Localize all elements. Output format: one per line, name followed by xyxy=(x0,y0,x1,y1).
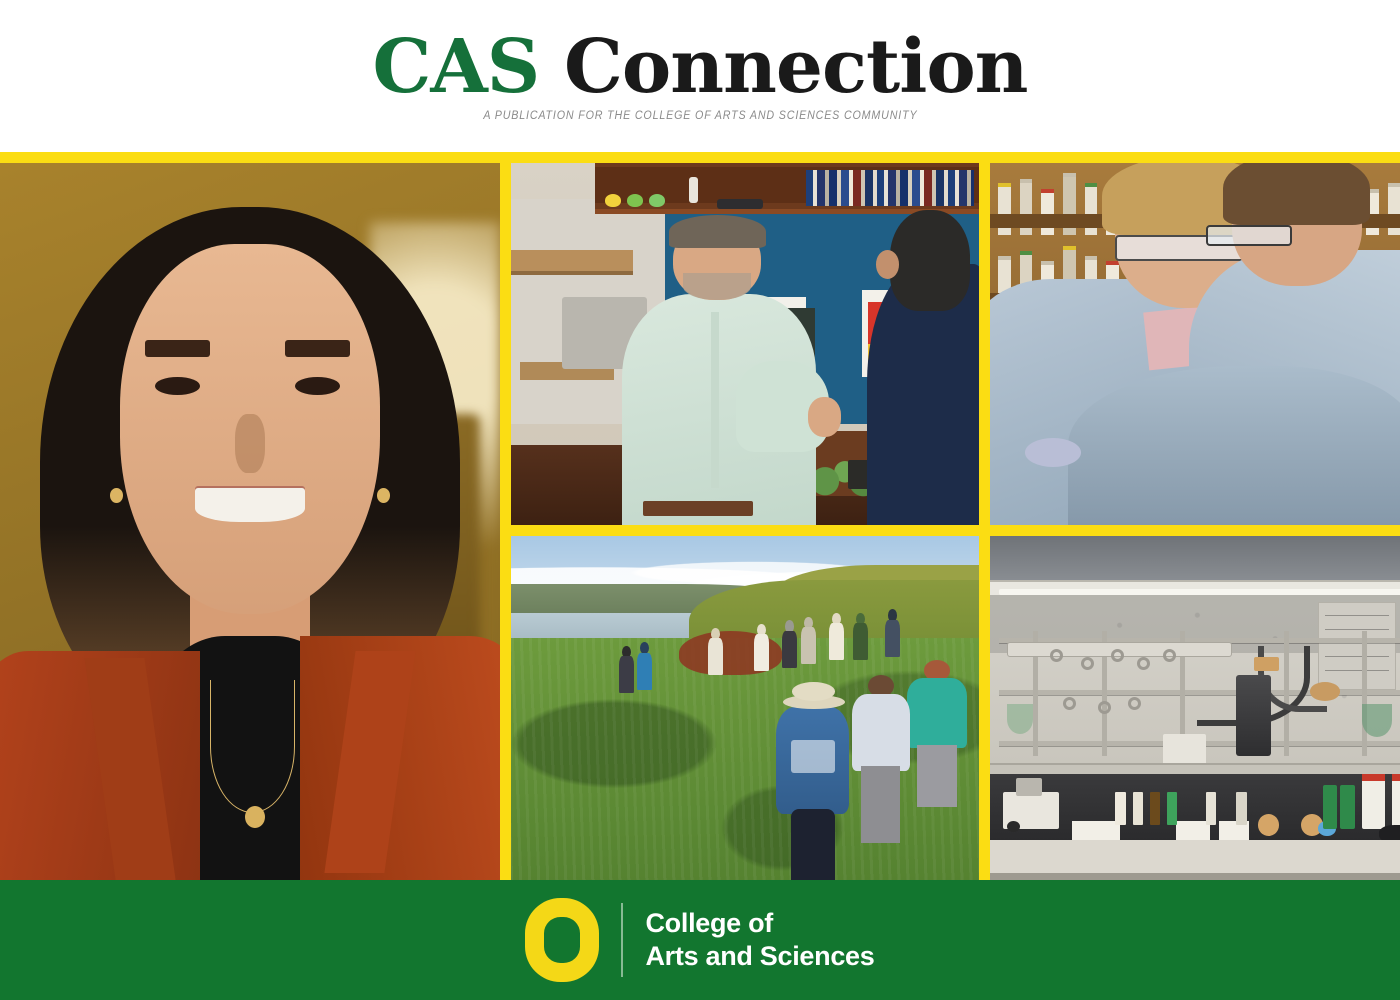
footer-brand-bar: College of Arts and Sciences xyxy=(0,880,1400,1000)
lockup-line-2: Arts and Sciences xyxy=(645,940,874,973)
lockup-line-1: College of xyxy=(645,907,874,940)
photo-grid xyxy=(0,152,1400,880)
lockup-text: College of Arts and Sciences xyxy=(645,907,874,973)
photo-coastal-field-trip xyxy=(511,536,979,902)
photo-faculty-office-conversation xyxy=(511,163,979,525)
photo-chemistry-students-at-bench xyxy=(990,163,1400,525)
lockup-divider xyxy=(621,903,623,977)
masthead-subtitle: A PUBLICATION FOR THE COLLEGE OF ARTS AN… xyxy=(483,110,917,122)
masthead: CAS Connection A PUBLICATION FOR THE COL… xyxy=(0,0,1400,152)
page-title: CAS Connection xyxy=(373,26,1028,108)
oregon-o-logo-icon xyxy=(525,898,599,982)
photo-faculty-portrait xyxy=(0,163,500,902)
newsletter-cover: CAS Connection A PUBLICATION FOR THE COL… xyxy=(0,0,1400,1000)
uo-cas-lockup: College of Arts and Sciences xyxy=(525,898,874,982)
title-connection: Connection xyxy=(539,24,1027,110)
photo-fume-hood-schlenk-line xyxy=(990,536,1400,902)
title-cas: CAS xyxy=(373,24,540,110)
